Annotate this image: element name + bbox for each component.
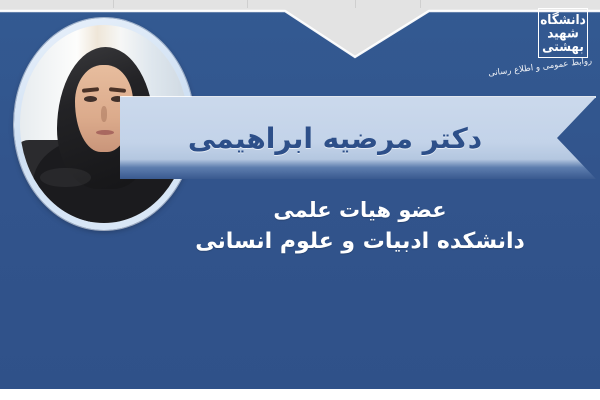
university-logo: دانشگاه شهید بهشتی روابط عمومی و اطلاع ر… bbox=[498, 6, 594, 80]
profile-card: دکتر مرضیه ابراهیمی عضو هیات علمی دانشکد… bbox=[0, 0, 600, 400]
person-name: دکتر مرضیه ابراهیمی bbox=[120, 97, 550, 179]
bottom-white-band bbox=[0, 389, 600, 400]
subtitle-block: عضو هیات علمی دانشکده ادبیات و علوم انسا… bbox=[160, 196, 560, 257]
university-logo-text: دانشگاه شهید بهشتی bbox=[539, 12, 587, 53]
subtitle-line-1: عضو هیات علمی bbox=[160, 196, 560, 226]
university-logo-mark: دانشگاه شهید بهشتی bbox=[538, 8, 588, 58]
subtitle-line-2: دانشکده ادبیات و علوم انسانی bbox=[160, 226, 560, 257]
public-relations-label: روابط عمومی و اطلاع رسانی bbox=[500, 56, 593, 77]
